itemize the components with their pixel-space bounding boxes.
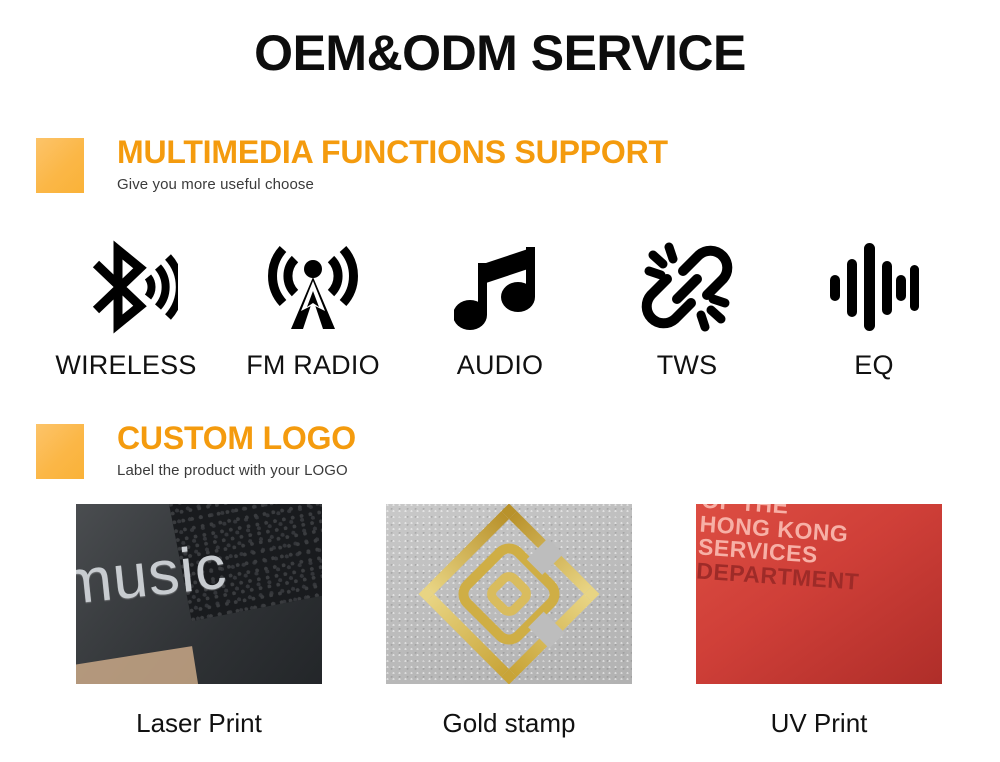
feature-item-audio: AUDIO xyxy=(410,232,590,381)
feature-label-audio: AUDIO xyxy=(457,350,544,381)
section-header-custom-logo: CUSTOM LOGO Label the product with your … xyxy=(36,424,356,479)
section-subtitle-custom-logo: Label the product with your LOGO xyxy=(117,462,356,479)
feature-list: WIRELESS FM RADIO xyxy=(36,232,964,381)
logo-caption-uv-print: UV Print xyxy=(771,708,868,739)
feature-item-wireless: WIRELESS xyxy=(36,232,216,381)
logo-sample-laser-print: music Laser Print xyxy=(76,504,322,739)
equalizer-waveform-icon xyxy=(828,232,920,342)
feature-label-wireless: WIRELESS xyxy=(55,350,196,381)
section-title-custom-logo: CUSTOM LOGO xyxy=(117,422,356,456)
feature-item-eq: EQ xyxy=(784,232,964,381)
feature-label-tws: TWS xyxy=(657,350,718,381)
logo-sample-uv-print: THE HIS OF THE HONG KONG SERVICES DEPART… xyxy=(696,504,942,739)
accent-square-icon xyxy=(36,424,84,479)
music-note-icon xyxy=(454,232,546,342)
logo-caption-gold-stamp: Gold stamp xyxy=(443,708,576,739)
accent-square-icon xyxy=(36,138,84,193)
logo-sample-gold-stamp: Gold stamp xyxy=(386,504,632,739)
section-title-multimedia: MULTIMEDIA FUNCTIONS SUPPORT xyxy=(117,136,668,170)
page-title: OEM&ODM SERVICE xyxy=(0,26,1000,81)
uv-print-book-cover: THE HIS OF THE HONG KONG SERVICES DEPART… xyxy=(696,504,942,684)
feature-item-tws: TWS xyxy=(597,232,777,381)
radio-tower-icon xyxy=(261,232,365,342)
bluetooth-icon xyxy=(74,232,178,342)
section-header-multimedia: MULTIMEDIA FUNCTIONS SUPPORT Give you mo… xyxy=(36,138,668,193)
feature-label-fm-radio: FM RADIO xyxy=(246,350,380,381)
uv-print-photo: THE HIS OF THE HONG KONG SERVICES DEPART… xyxy=(696,504,942,684)
laser-print-photo: music xyxy=(76,504,322,684)
logo-sample-list: music Laser Print Gold stamp THE HIS OF … xyxy=(76,504,942,739)
feature-item-fm-radio: FM RADIO xyxy=(223,232,403,381)
feature-label-eq: EQ xyxy=(854,350,893,381)
gold-stamp-photo xyxy=(386,504,632,684)
uv-print-logo-text: THE HIS OF THE HONG KONG SERVICES DEPART… xyxy=(696,504,942,599)
section-subtitle-multimedia: Give you more useful choose xyxy=(117,176,668,193)
logo-caption-laser-print: Laser Print xyxy=(136,708,262,739)
chain-link-icon xyxy=(639,232,735,342)
